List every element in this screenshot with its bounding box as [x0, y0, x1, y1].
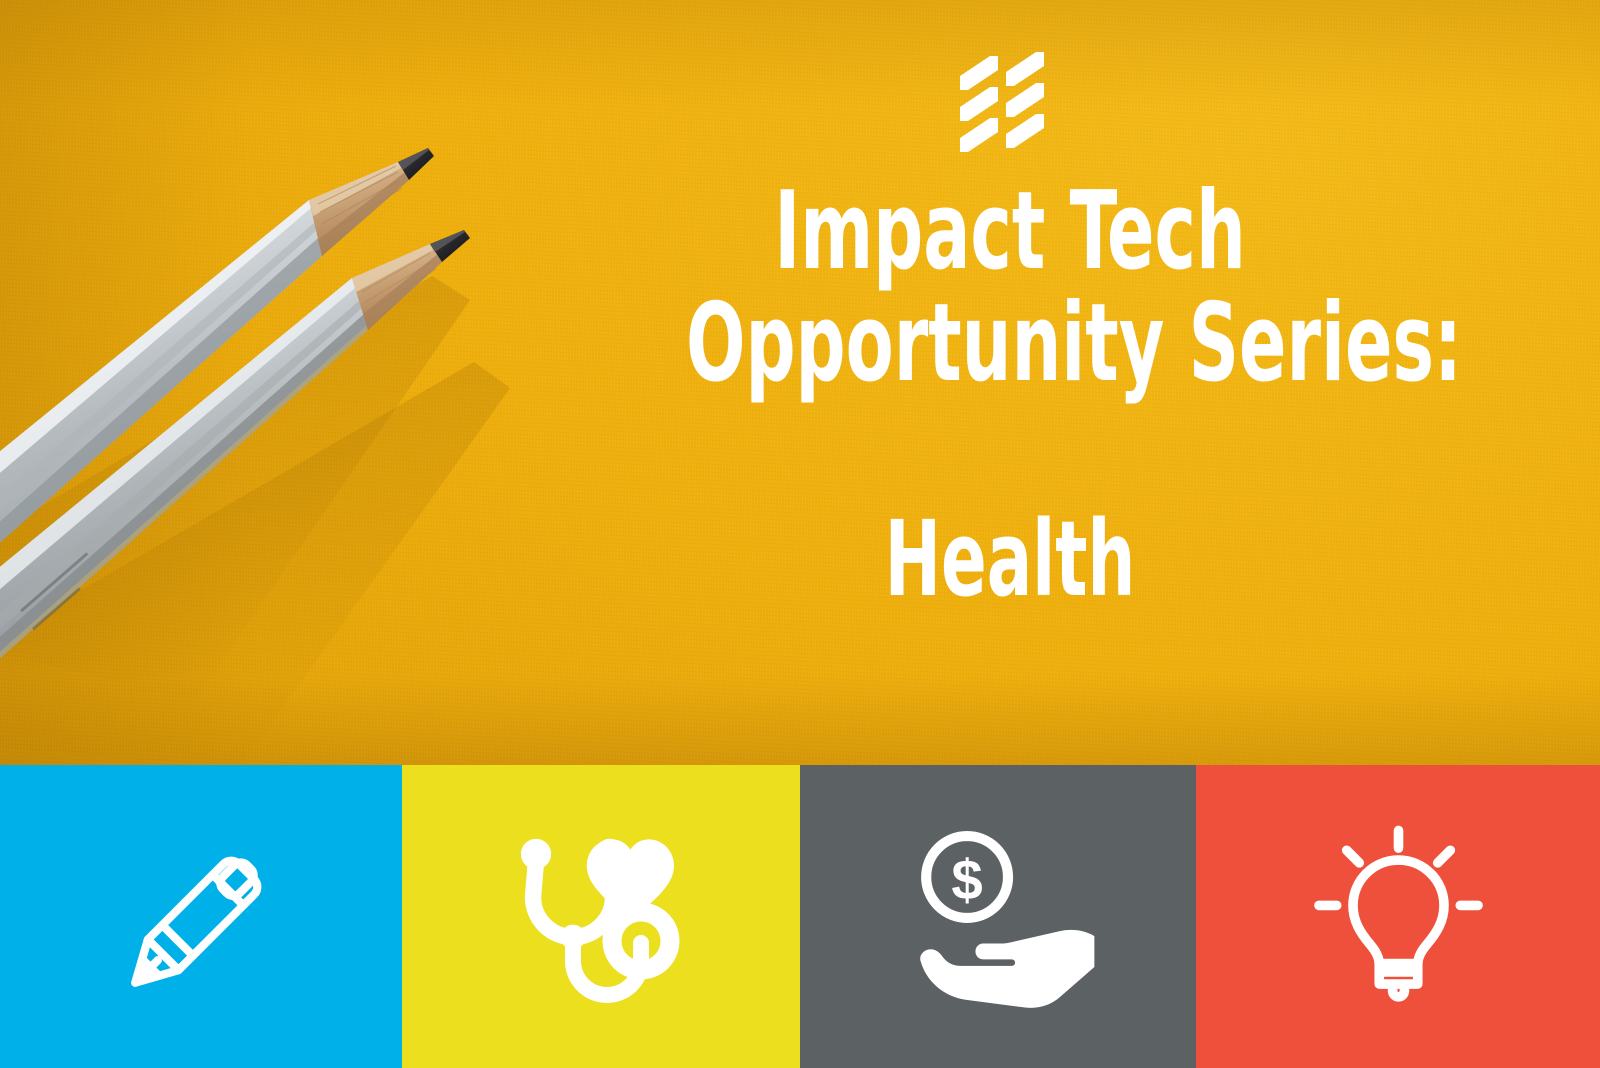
page-subtitle: Health	[560, 505, 1460, 613]
ray-top-right	[1437, 850, 1450, 863]
subtitle-line-1: Health	[686, 505, 1334, 613]
earpiece-left	[521, 838, 551, 868]
poster-canvas: Impact Tech Opportunity Series: Health	[0, 0, 1600, 1068]
page-title: Impact Tech Opportunity Series:	[560, 176, 1460, 400]
hand-holding-dollar-coin-icon: $	[898, 822, 1098, 1012]
panel-health[interactable]	[402, 765, 800, 1068]
impact-tech-bars-logo	[944, 52, 1060, 152]
lightbulb-icon	[1306, 824, 1491, 1009]
svg-text:$: $	[951, 848, 982, 911]
open-hand-icon	[920, 929, 1094, 1007]
title-line-2: Opportunity Series:	[686, 288, 1334, 400]
pencil-icon	[111, 827, 291, 1007]
heart-icon	[587, 839, 674, 920]
ray-top-left	[1346, 850, 1359, 863]
title-line-1: Impact Tech	[686, 176, 1334, 288]
panel-education[interactable]	[0, 765, 402, 1068]
panel-innovation[interactable]	[1196, 765, 1600, 1068]
dollar-coin-icon: $	[926, 836, 1008, 918]
panel-economic-opportunity[interactable]: $	[800, 765, 1196, 1068]
category-color-bar: $	[0, 765, 1600, 1068]
stethoscope-joint	[561, 924, 586, 949]
stethoscope-heart-icon	[501, 817, 701, 1017]
